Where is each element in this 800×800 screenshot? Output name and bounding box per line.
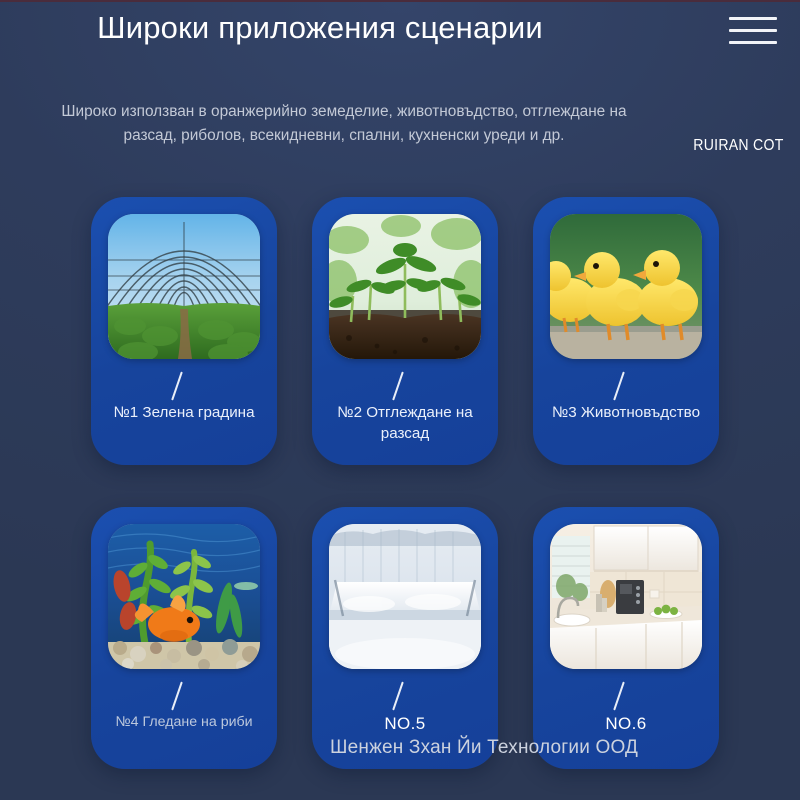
application-scenarios-page: Широки приложения сценарии Широко използ… (0, 0, 800, 800)
hamburger-bar-3 (729, 41, 777, 44)
company-name: Шенжен Зхан Йи Технологии ООД (330, 737, 800, 759)
scenario-card-fish-watching[interactable]: №4 Гледане на риби (91, 507, 277, 769)
scenario-card-grid: №1 Зелена градина (91, 197, 719, 769)
ducklings-photo (550, 214, 702, 359)
scenario-card-label: NO.6 (541, 713, 711, 736)
scenario-card-label: №2 Отглеждане на разсад (320, 403, 490, 444)
greenhouse-photo (108, 214, 260, 359)
divider-slash (171, 371, 183, 400)
scenario-card-kitchen[interactable]: NO.6 (533, 507, 719, 769)
aquarium-photo (108, 524, 260, 669)
divider-slash (392, 681, 404, 710)
divider-slash (392, 371, 404, 400)
scenario-card-label: NO.5 (320, 713, 490, 736)
scenario-card-label: №1 Зелена градина (99, 403, 269, 424)
page-subtitle: Широко използван в оранжерийно земеделие… (34, 100, 654, 148)
hamburger-menu-icon[interactable] (729, 10, 777, 50)
kitchen-photo (550, 524, 702, 669)
divider-slash (613, 371, 625, 400)
hamburger-bar-2 (729, 29, 777, 32)
page-title: Широки приложения сценарии (0, 6, 640, 50)
scenario-card-seedlings[interactable]: №2 Отглеждане на разсад (312, 197, 498, 465)
brand-watermark: RUIRAN COT (694, 137, 784, 155)
hamburger-bar-1 (729, 17, 777, 20)
divider-slash (171, 681, 183, 710)
scenario-card-label: №3 Животновъдство (541, 403, 711, 424)
scenario-card-livestock[interactable]: №3 Животновъдство (533, 197, 719, 465)
scenario-card-bedroom[interactable]: NO.5 (312, 507, 498, 769)
divider-slash (613, 681, 625, 710)
bedroom-photo (329, 524, 481, 669)
scenario-card-green-garden[interactable]: №1 Зелена градина (91, 197, 277, 465)
scenario-card-label: №4 Гледане на риби (99, 713, 269, 732)
seedlings-photo (329, 214, 481, 359)
